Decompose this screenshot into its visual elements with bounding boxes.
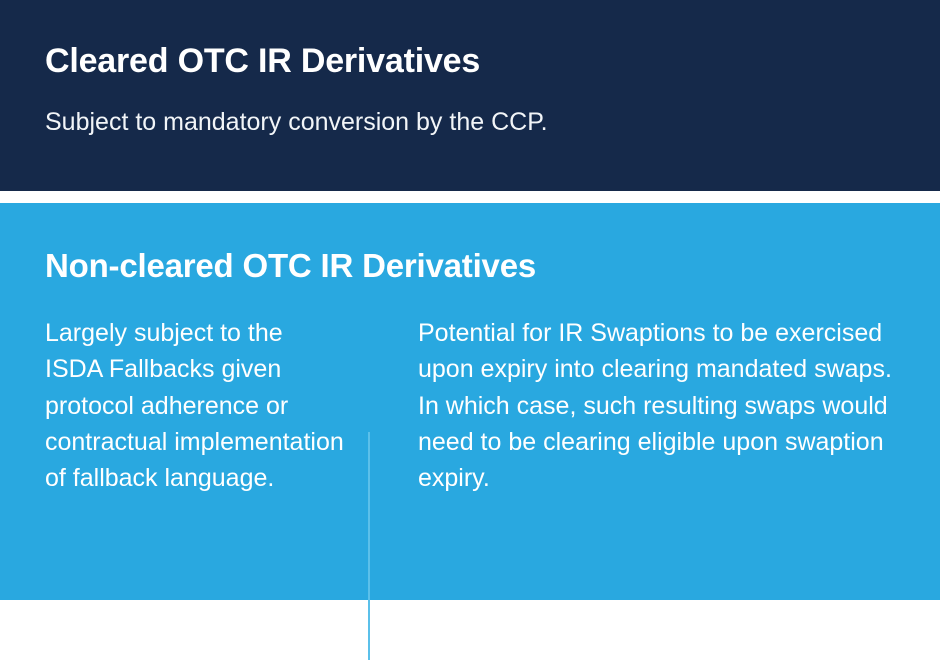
cleared-derivatives-panel: Cleared OTC IR Derivatives Subject to ma… — [0, 0, 940, 191]
cleared-panel-title: Cleared OTC IR Derivatives — [45, 43, 480, 80]
non-cleared-column-right-text: Potential for IR Swaptions to be exercis… — [418, 315, 896, 496]
panel-separator — [0, 191, 940, 203]
non-cleared-column-left-text: Largely subject to the ISDA Fallbacks gi… — [45, 315, 345, 496]
otc-ir-derivatives-infographic: Cleared OTC IR Derivatives Subject to ma… — [0, 0, 940, 600]
column-divider — [368, 432, 370, 660]
non-cleared-derivatives-panel: Non-cleared OTC IR Derivatives Largely s… — [0, 203, 940, 600]
non-cleared-panel-title: Non-cleared OTC IR Derivatives — [45, 248, 536, 284]
cleared-panel-subtitle: Subject to mandatory conversion by the C… — [45, 107, 548, 137]
